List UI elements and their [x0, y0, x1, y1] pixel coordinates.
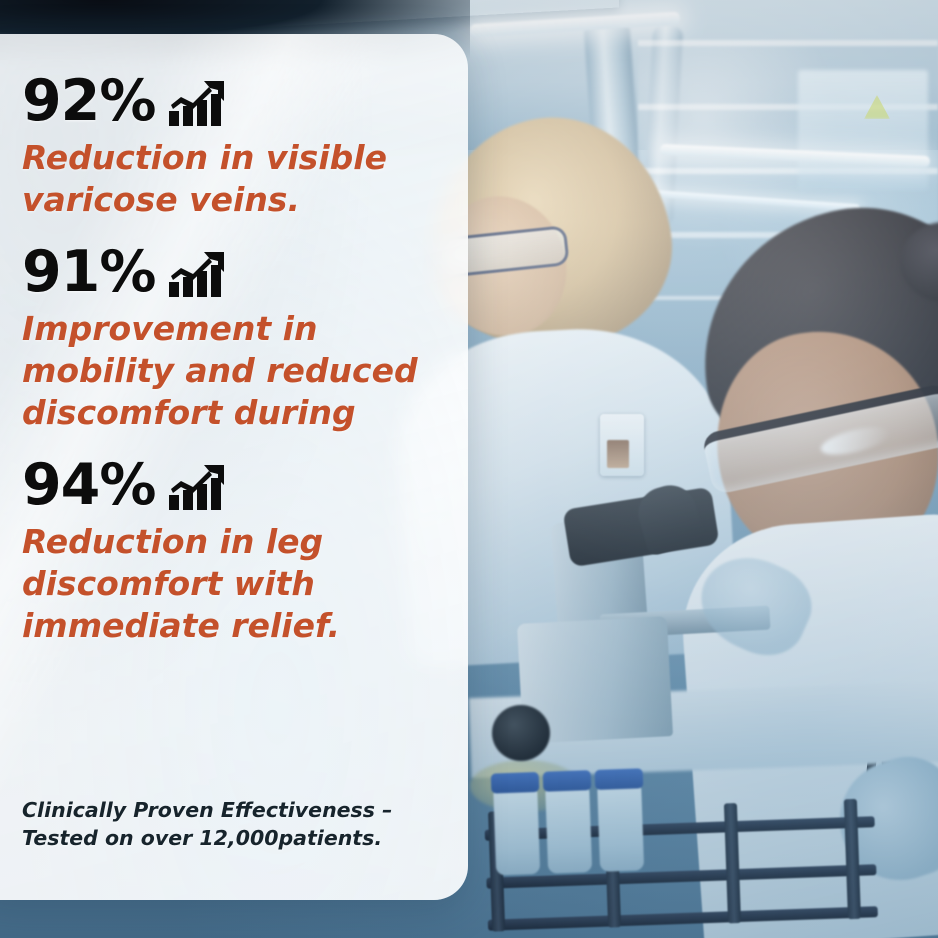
glass-shelf — [798, 70, 928, 190]
growth-bar-chart-icon — [167, 247, 233, 299]
stat-description-2: Improvement in mobility and reduced disc… — [22, 308, 446, 434]
stat-description-1: Reduction in visible varicose veins. — [22, 137, 446, 221]
stat-block-2: 91% Improvement in mobility and reduced … — [22, 243, 446, 434]
growth-bar-chart-icon — [167, 460, 233, 512]
stats-card: 92% Reduction in visible varicose veins.… — [0, 34, 468, 900]
id-badge — [600, 414, 644, 476]
sample-vial — [597, 784, 644, 871]
microscope-focus-knob — [492, 705, 550, 761]
test-tube-rack — [484, 798, 878, 932]
stat-block-1: 92% Reduction in visible varicose veins. — [22, 72, 446, 221]
rack-bar — [485, 816, 875, 841]
stat-description-3: Reduction in leg discomfort with immedia… — [22, 521, 446, 647]
promo-graphic: 92% Reduction in visible varicose veins.… — [0, 0, 938, 938]
stats-card-content: 92% Reduction in visible varicose veins.… — [0, 34, 468, 900]
stat-value-1: 92% — [22, 72, 155, 130]
growth-bar-chart-icon — [167, 76, 233, 128]
stat-value-2: 91% — [22, 243, 155, 301]
stat-block-3: 94% Reduction in leg discomfort with imm… — [22, 456, 446, 647]
stat-headline-2: 91% — [22, 243, 446, 301]
stat-value-3: 94% — [22, 456, 155, 514]
clinical-proof-footnote: Clinically Proven Effectiveness – Tested… — [22, 796, 446, 853]
stat-headline-1: 92% — [22, 72, 446, 130]
sample-vial — [545, 786, 592, 873]
stat-headline-3: 94% — [22, 456, 446, 514]
rack-bar — [486, 864, 876, 889]
sample-vial — [493, 788, 540, 875]
